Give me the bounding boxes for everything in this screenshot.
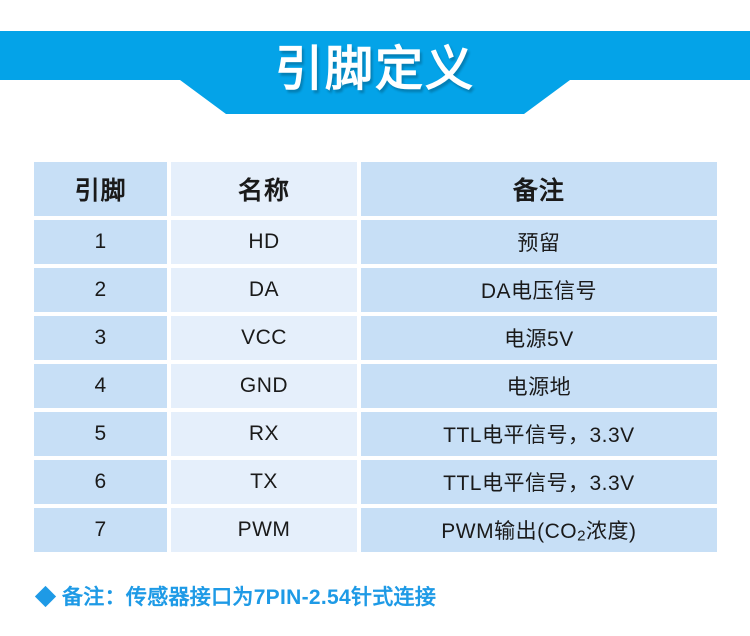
table-row: 2 DA DA电压信号 [34, 268, 717, 312]
table-row: 6 TX TTL电平信号，3.3V [34, 460, 717, 504]
cell-note: DA电压信号 [361, 268, 717, 312]
cell-name: PWM [171, 508, 357, 552]
note-text: DA电压信号 [481, 280, 597, 303]
note-text: 电源地 [507, 376, 572, 399]
cell-pin: 1 [34, 220, 167, 264]
cell-name: HD [171, 220, 357, 264]
cell-pin: 3 [34, 316, 167, 360]
cell-name: GND [171, 364, 357, 408]
cell-pin: 5 [34, 412, 167, 456]
cell-note: 电源5V [361, 316, 717, 360]
note-text: PWM输出(CO [441, 520, 577, 543]
table-row: 1 HD 预留 [34, 220, 717, 264]
note-text: TTL电平信号，3.3V [443, 472, 635, 495]
page-title: 引脚定义 [0, 31, 750, 114]
column-header-note: 备注 [361, 162, 717, 216]
diamond-bullet-icon [35, 585, 56, 606]
cell-note: TTL电平信号，3.3V [361, 460, 717, 504]
cell-name: TX [171, 460, 357, 504]
cell-pin: 4 [34, 364, 167, 408]
cell-pin: 6 [34, 460, 167, 504]
pin-definition-table: 引脚 名称 备注 1 HD 预留 2 DA DA电压信号 3 VCC 电源5V … [30, 158, 721, 556]
table-row: 4 GND 电源地 [34, 364, 717, 408]
column-header-pin: 引脚 [34, 162, 167, 216]
cell-note: 电源地 [361, 364, 717, 408]
cell-note: PWM输出(CO2浓度) [361, 508, 717, 552]
note-text-suffix: 浓度) [586, 520, 637, 543]
table-row: 7 PWM PWM输出(CO2浓度) [34, 508, 717, 552]
note-text: 电源5V [504, 328, 574, 351]
note-text: TTL电平信号，3.3V [443, 424, 635, 447]
note-subscript: 2 [577, 528, 586, 545]
cell-pin: 2 [34, 268, 167, 312]
cell-note: 预留 [361, 220, 717, 264]
cell-note: TTL电平信号，3.3V [361, 412, 717, 456]
table-body: 1 HD 预留 2 DA DA电压信号 3 VCC 电源5V 4 GND 电源地… [34, 220, 717, 552]
page-banner: 引脚定义 [0, 31, 750, 114]
table-row: 5 RX TTL电平信号，3.3V [34, 412, 717, 456]
note-text: 预留 [517, 232, 560, 255]
footer-note: 备注：传感器接口为7PIN-2.54针式连接 [38, 581, 436, 611]
cell-name: DA [171, 268, 357, 312]
table-header-row: 引脚 名称 备注 [34, 162, 717, 216]
cell-pin: 7 [34, 508, 167, 552]
table-row: 3 VCC 电源5V [34, 316, 717, 360]
column-header-name: 名称 [171, 162, 357, 216]
footer-note-text: 备注：传感器接口为7PIN-2.54针式连接 [62, 581, 436, 611]
cell-name: VCC [171, 316, 357, 360]
cell-name: RX [171, 412, 357, 456]
